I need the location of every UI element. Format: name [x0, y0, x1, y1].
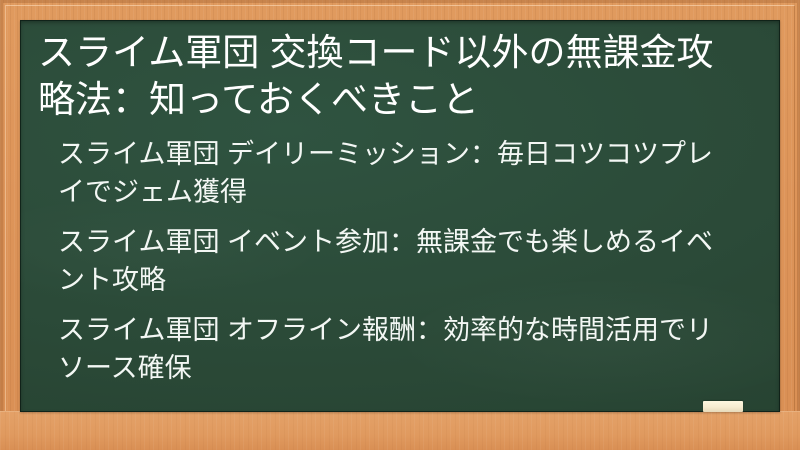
list-item: スライム軍団 デイリーミッション：毎日コツコツプレイでジェム獲得	[58, 135, 718, 211]
blackboard-content: スライム軍団 交換コード以外の無課金攻略法：知っておくべきこと スライム軍団 デ…	[20, 20, 780, 412]
list-item: スライム軍団 イベント参加：無課金でも楽しめるイベント攻略	[58, 223, 718, 299]
slide-screenshot: スライム軍団 交換コード以外の無課金攻略法：知っておくべきこと スライム軍団 デ…	[0, 0, 800, 450]
chalk-stick-icon	[703, 401, 743, 412]
topic-list: スライム軍団 デイリーミッション：毎日コツコツプレイでジェム獲得 スライム軍団 …	[38, 135, 762, 387]
blackboard: スライム軍団 交換コード以外の無課金攻略法：知っておくべきこと スライム軍団 デ…	[20, 20, 780, 412]
chalk-ledge	[0, 411, 800, 450]
list-item: スライム軍団 オフライン報酬：効率的な時間活用でリソース確保	[58, 311, 718, 387]
page-title: スライム軍団 交換コード以外の無課金攻略法：知っておくべきこと	[38, 29, 728, 123]
